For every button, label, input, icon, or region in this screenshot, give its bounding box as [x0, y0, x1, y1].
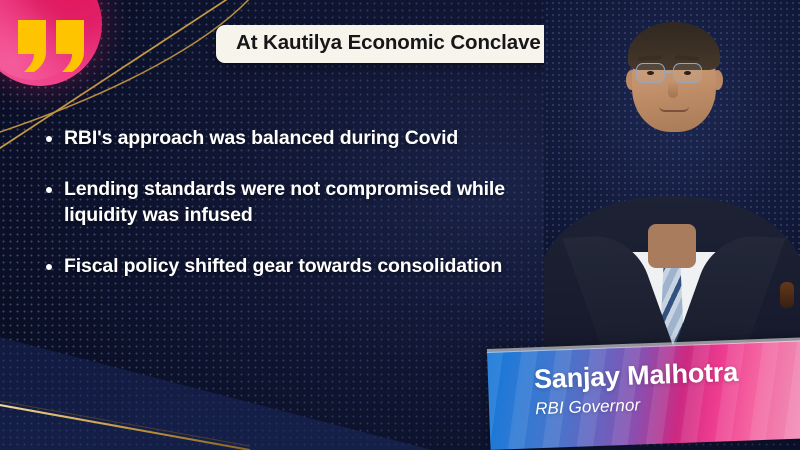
microphone-icon [780, 282, 794, 308]
speaker-name: Sanjay Malhotra [533, 357, 738, 395]
speaker-neck [648, 224, 696, 268]
bullet-dot-icon [46, 187, 52, 193]
speaker-nose [668, 82, 678, 98]
list-item: Fiscal policy shifted gear towards conso… [46, 254, 516, 279]
broadcast-graphic-slide: At Kautilya Economic Conclave NDTV Profi… [0, 0, 800, 450]
speaker-eye-left [647, 71, 654, 75]
speaker-name-banner: Sanjay Malhotra RBI Governor [487, 340, 800, 450]
bullet-dot-icon [46, 136, 52, 142]
bullet-text: Lending standards were not compromised w… [64, 177, 516, 228]
page-title-text: At Kautilya Economic Conclave [236, 31, 541, 55]
list-item: RBI's approach was balanced during Covid [46, 126, 516, 151]
bullet-dot-icon [46, 264, 52, 270]
list-item: Lending standards were not compromised w… [46, 177, 516, 228]
bullet-text: RBI's approach was balanced during Covid [64, 126, 458, 151]
speaker-role: RBI Governor [535, 395, 641, 419]
bullet-text: Fiscal policy shifted gear towards conso… [64, 254, 502, 279]
bullet-list: RBI's approach was balanced during Covid… [46, 126, 516, 305]
page-title: At Kautilya Economic Conclave [216, 25, 561, 63]
quotation-mark-icon [16, 18, 88, 76]
speaker-photo [544, 0, 800, 372]
glasses-bridge-icon [665, 71, 673, 73]
speaker-mouth [659, 106, 689, 112]
speaker-eye-right [684, 71, 691, 75]
